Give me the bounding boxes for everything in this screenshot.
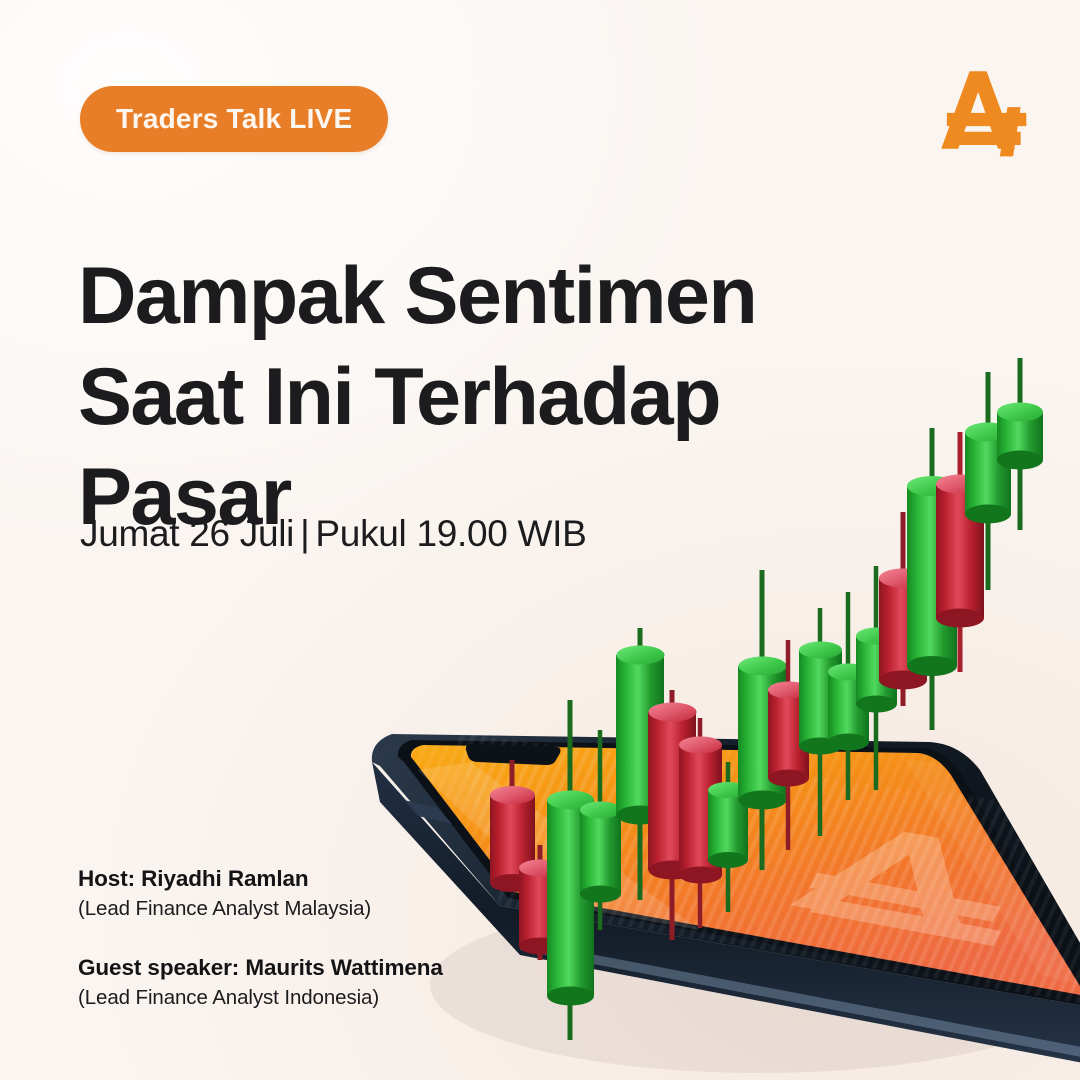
- candle-8: [708, 762, 748, 912]
- candle-2: [519, 845, 562, 960]
- credits-block: Host: Riyadhi Ramlan (Lead Finance Analy…: [78, 866, 443, 1010]
- candle-17: [965, 372, 1011, 590]
- candle-4: [580, 730, 621, 930]
- candle-18: [997, 358, 1043, 530]
- headline-line-1: Dampak Sentimen: [78, 246, 798, 346]
- candle-5: [616, 628, 665, 900]
- candle-15: [907, 428, 957, 730]
- candle-11: [799, 608, 842, 836]
- candle-6: [648, 690, 697, 940]
- credit-guest-name: Guest speaker: Maurits Wattimena: [78, 955, 443, 981]
- poster-canvas: Traders Talk LIVE Dampak Sentimen Saat I…: [0, 0, 1080, 1080]
- schedule-time: Pukul 19.00 WIB: [315, 513, 586, 554]
- headline-line-2: Saat Ini Terhadap: [78, 347, 798, 447]
- candle-13: [856, 566, 897, 790]
- candle-3: [547, 700, 594, 1040]
- credit-host: Host: Riyadhi Ramlan (Lead Finance Analy…: [78, 866, 443, 921]
- page-title: Dampak Sentimen Saat Ini Terhadap Pasar: [78, 246, 798, 547]
- candle-7: [679, 718, 722, 928]
- phone-mockup: [372, 700, 1080, 1080]
- credit-guest: Guest speaker: Maurits Wattimena (Lead F…: [78, 955, 443, 1010]
- abra-a-logo-icon: [928, 58, 1032, 162]
- candle-12: [828, 592, 869, 800]
- live-badge[interactable]: Traders Talk LIVE: [80, 86, 388, 152]
- candle-14: [879, 512, 927, 706]
- credit-guest-role: (Lead Finance Analyst Indonesia): [78, 986, 443, 1010]
- schedule-separator: |: [294, 513, 315, 554]
- candle-1: [490, 760, 535, 892]
- candle-9: [738, 570, 787, 870]
- schedule-line: Jumat 26 Juli|Pukul 19.00 WIB: [80, 513, 587, 555]
- live-badge-label: Traders Talk LIVE: [116, 103, 352, 135]
- credit-host-role: (Lead Finance Analyst Malaysia): [78, 897, 443, 921]
- candle-10: [768, 640, 809, 850]
- schedule-date: Jumat 26 Juli: [80, 513, 294, 554]
- candle-16: [936, 432, 984, 672]
- credit-host-name: Host: Riyadhi Ramlan: [78, 866, 443, 892]
